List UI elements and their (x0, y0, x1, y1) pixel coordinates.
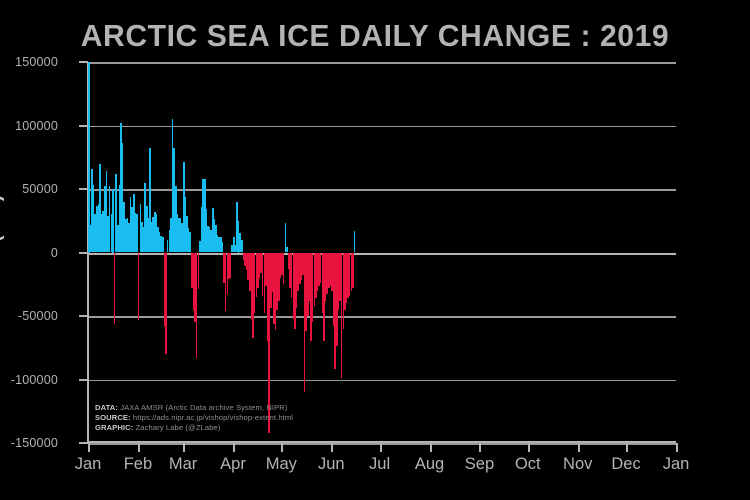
y-tick-mark-150000 (79, 61, 88, 63)
x-tick-label-Aug-7: Aug (415, 455, 444, 474)
x-tick-label-Jan-0: Jan (75, 455, 102, 474)
gridline-y-0 (88, 253, 676, 255)
x-tick-mark-Jan-0 (88, 443, 90, 452)
credit-graphic-label: GRAPHIC: (95, 423, 133, 432)
credit-data-value: JAXA AMSR (Arctic Data archive System, N… (118, 403, 288, 412)
bar-day-166 (354, 231, 356, 253)
bar-day-122 (283, 253, 285, 285)
credit-data-label: DATA: (95, 403, 118, 412)
x-tick-mark-Jul-6 (380, 443, 382, 452)
bar-day-49 (165, 253, 167, 355)
gridline-y--150000 (88, 443, 676, 445)
x-tick-label-Jan-12: Jan (663, 455, 690, 474)
x-tick-mark-Aug-7 (430, 443, 432, 452)
y-tick-mark--100000 (79, 379, 88, 381)
y-tick-label--100000: -100000 (11, 373, 58, 387)
credits-block: DATA: JAXA AMSR (Arctic Data archive Sys… (95, 403, 293, 433)
y-tick-mark-100000 (79, 125, 88, 127)
x-tick-label-Mar-2: Mar (169, 455, 197, 474)
credit-source-label: SOURCE: (95, 413, 131, 422)
credit-line-graphic: GRAPHIC: Zachary Labe (@ZLabe) (95, 423, 293, 433)
bar-day-69 (198, 253, 200, 290)
credit-line-source: SOURCE: https://ads.nipr.ac.jp/vishop/vi… (95, 413, 293, 423)
x-tick-label-Apr-3: Apr (220, 455, 246, 474)
bar-day-89 (230, 253, 232, 278)
x-tick-label-Dec-11: Dec (611, 455, 640, 474)
x-tick-label-May-4: May (266, 455, 297, 474)
credit-line-data: DATA: JAXA AMSR (Arctic Data archive Sys… (95, 403, 293, 413)
x-tick-label-Feb-1: Feb (124, 455, 152, 474)
chart-page: ARCTIC SEA ICE DAILY CHANGE : 2019 Exten… (0, 0, 750, 500)
bar-day-16 (112, 189, 114, 253)
plot-area (88, 62, 676, 443)
x-tick-mark-Mar-2 (183, 443, 185, 452)
x-tick-label-Sep-8: Sep (465, 455, 494, 474)
x-tick-mark-Nov-10 (578, 443, 580, 452)
credit-graphic-value: Zachary Labe (@ZLabe) (133, 423, 220, 432)
x-tick-mark-Apr-3 (233, 443, 235, 452)
bar-day-47 (162, 237, 164, 252)
x-tick-mark-Jun-5 (331, 443, 333, 452)
y-tick-label--150000: -150000 (11, 436, 58, 450)
bar-day-64 (189, 232, 191, 252)
x-tick-label-Nov-10: Nov (563, 455, 592, 474)
y-tick-label-100000: 100000 (15, 119, 58, 133)
bar-day-17 (114, 253, 116, 324)
gridline-y--100000 (88, 380, 676, 382)
bar-day-165 (352, 253, 354, 289)
credit-source-value: https://ads.nipr.ac.jp/vishop/vishop-ext… (131, 413, 293, 422)
bar-day-84 (222, 242, 224, 252)
y-tick-mark-50000 (79, 188, 88, 190)
y-tick-mark--50000 (79, 315, 88, 317)
gridline-y-150000 (88, 62, 676, 64)
x-tick-mark-May-4 (281, 443, 283, 452)
x-axis-line (88, 441, 676, 443)
x-tick-mark-Dec-11 (626, 443, 628, 452)
bar-day-96 (241, 240, 243, 253)
y-axis-label: Extent (km2) (0, 195, 6, 305)
y-tick-label-150000: 150000 (15, 55, 58, 69)
x-tick-label-Oct-9: Oct (515, 455, 541, 474)
x-tick-mark-Oct-9 (528, 443, 530, 452)
x-tick-label-Jul-6: Jul (369, 455, 390, 474)
gridline-y--50000 (88, 316, 676, 318)
y-tick-mark-0 (79, 252, 88, 254)
page-title: ARCTIC SEA ICE DAILY CHANGE : 2019 (11, 18, 739, 54)
gridline-y-100000 (88, 126, 676, 128)
y-tick-label-0: 0 (51, 246, 58, 260)
y-tick-label--50000: -50000 (18, 309, 58, 323)
bar-day-31 (136, 214, 138, 252)
y-tick-mark--150000 (79, 442, 88, 444)
x-tick-mark-Feb-1 (138, 443, 140, 452)
bar-day-32 (138, 253, 140, 320)
x-tick-mark-Sep-8 (479, 443, 481, 452)
y-tick-label-50000: 50000 (22, 182, 58, 196)
x-tick-label-Jun-5: Jun (318, 455, 345, 474)
x-tick-mark-Jan-12 (676, 443, 678, 452)
